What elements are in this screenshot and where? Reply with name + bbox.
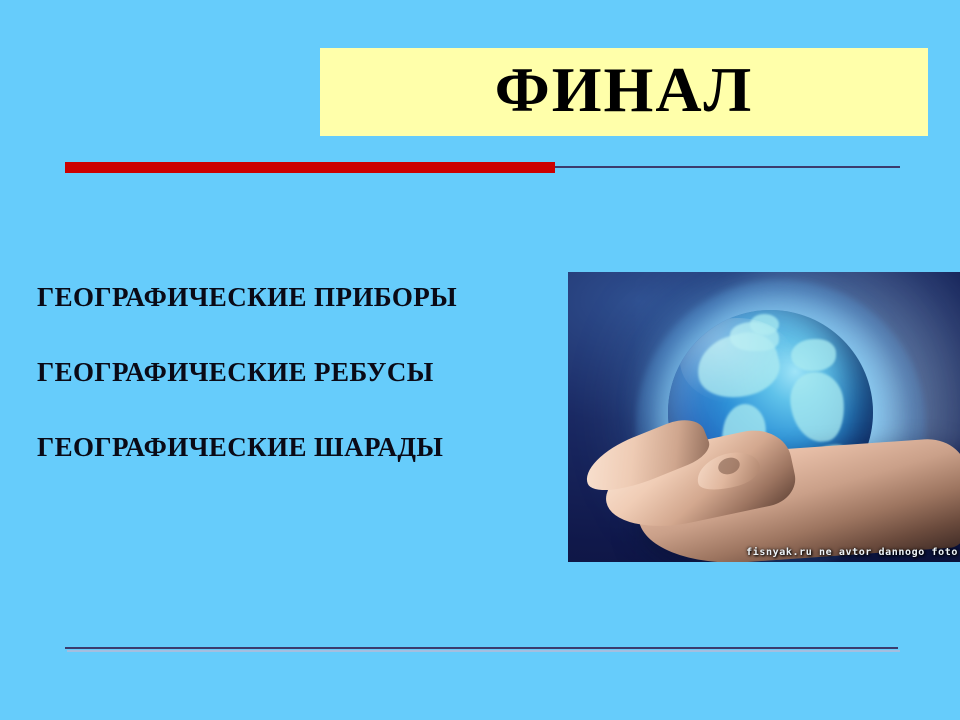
image-content: fisnyak.ru ne avtor dannogo foto bbox=[568, 272, 960, 562]
presentation-slide: ФИНАЛ ГЕОГРАФИЧЕСКИЕ ПРИБОРЫ ГЕОГРАФИЧЕС… bbox=[0, 0, 960, 720]
image-watermark: fisnyak.ru ne avtor dannogo foto bbox=[746, 547, 958, 558]
landmass-europe bbox=[791, 339, 836, 372]
landmass-north-america bbox=[690, 326, 784, 406]
footer-rule-shadow bbox=[67, 650, 900, 652]
title-banner: ФИНАЛ bbox=[320, 48, 928, 136]
footer-rule bbox=[65, 647, 898, 649]
list-item: ГЕОГРАФИЧЕСКИЕ ШАРАДЫ bbox=[37, 434, 557, 461]
list-item: ГЕОГРАФИЧЕСКИЕ ПРИБОРЫ bbox=[37, 284, 557, 311]
title-accent-bar bbox=[65, 162, 555, 173]
landmass-greenland bbox=[750, 314, 779, 335]
earth-in-hand-image: fisnyak.ru ne avtor dannogo foto bbox=[568, 272, 960, 562]
landmass-north-canada bbox=[730, 322, 779, 351]
landmass-africa bbox=[788, 369, 848, 444]
list-item: ГЕОГРАФИЧЕСКИЕ РЕБУСЫ bbox=[37, 359, 557, 386]
page-title: ФИНАЛ bbox=[495, 58, 753, 126]
topic-list: ГЕОГРАФИЧЕСКИЕ ПРИБОРЫ ГЕОГРАФИЧЕСКИЕ РЕ… bbox=[37, 284, 557, 461]
